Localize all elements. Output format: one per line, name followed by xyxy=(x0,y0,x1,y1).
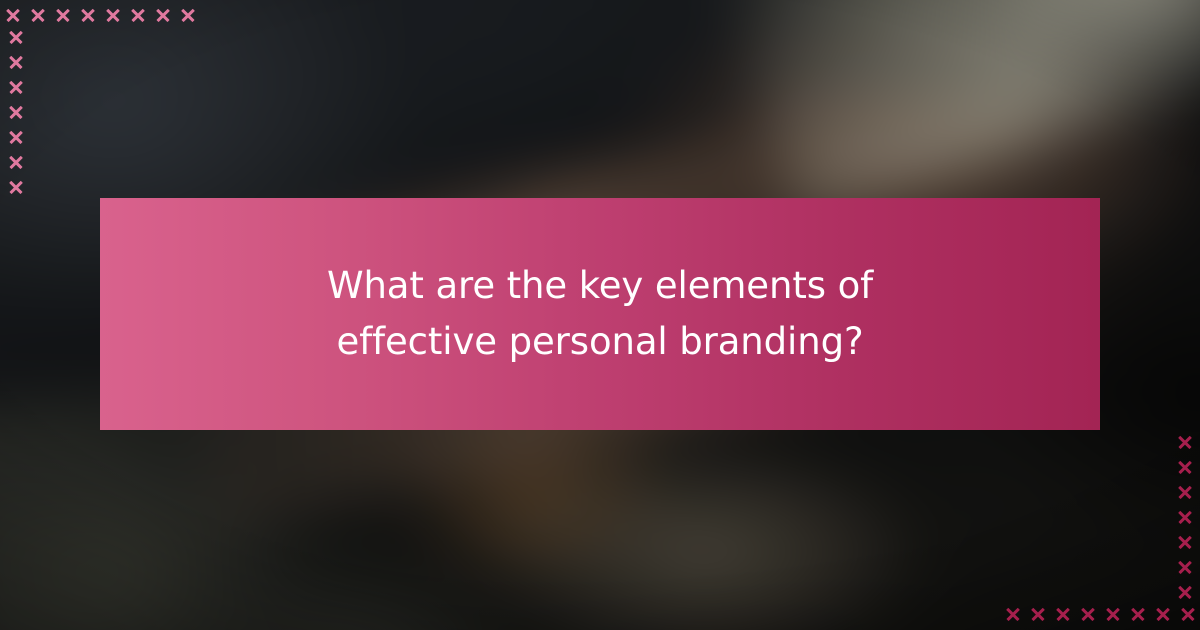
x-mark-icon xyxy=(1172,555,1197,580)
x-mark-icon xyxy=(150,3,175,28)
x-mark-icon xyxy=(1172,580,1197,605)
x-mark-icon xyxy=(1075,602,1100,627)
decoration-x-column-bottom-right xyxy=(1172,430,1197,605)
x-mark-icon xyxy=(1025,602,1050,627)
social-share-card: What are the key elements of effective p… xyxy=(0,0,1200,630)
headline-banner: What are the key elements of effective p… xyxy=(100,198,1100,430)
x-mark-icon xyxy=(3,125,28,150)
x-mark-icon xyxy=(175,3,200,28)
x-mark-icon xyxy=(3,150,28,175)
decoration-x-column-top-left xyxy=(3,25,28,200)
x-mark-icon xyxy=(1172,480,1197,505)
decoration-x-row-bottom-right xyxy=(1000,602,1200,627)
x-mark-icon xyxy=(25,3,50,28)
x-mark-icon xyxy=(3,100,28,125)
x-mark-icon xyxy=(1172,430,1197,455)
x-mark-icon xyxy=(1172,530,1197,555)
x-mark-icon xyxy=(125,3,150,28)
x-mark-icon xyxy=(1100,602,1125,627)
x-mark-icon xyxy=(3,175,28,200)
decoration-x-row-top-left xyxy=(0,3,200,28)
x-mark-icon xyxy=(1172,505,1197,530)
x-mark-icon xyxy=(1050,602,1075,627)
x-mark-icon xyxy=(1125,602,1150,627)
x-mark-icon xyxy=(1150,602,1175,627)
x-mark-icon xyxy=(1175,602,1200,627)
headline-text: What are the key elements of effective p… xyxy=(250,258,950,370)
x-mark-icon xyxy=(1172,455,1197,480)
x-mark-icon xyxy=(3,25,28,50)
x-mark-icon xyxy=(50,3,75,28)
x-mark-icon xyxy=(75,3,100,28)
x-mark-icon xyxy=(3,75,28,100)
x-mark-icon xyxy=(100,3,125,28)
x-mark-icon xyxy=(3,50,28,75)
x-mark-icon xyxy=(1000,602,1025,627)
